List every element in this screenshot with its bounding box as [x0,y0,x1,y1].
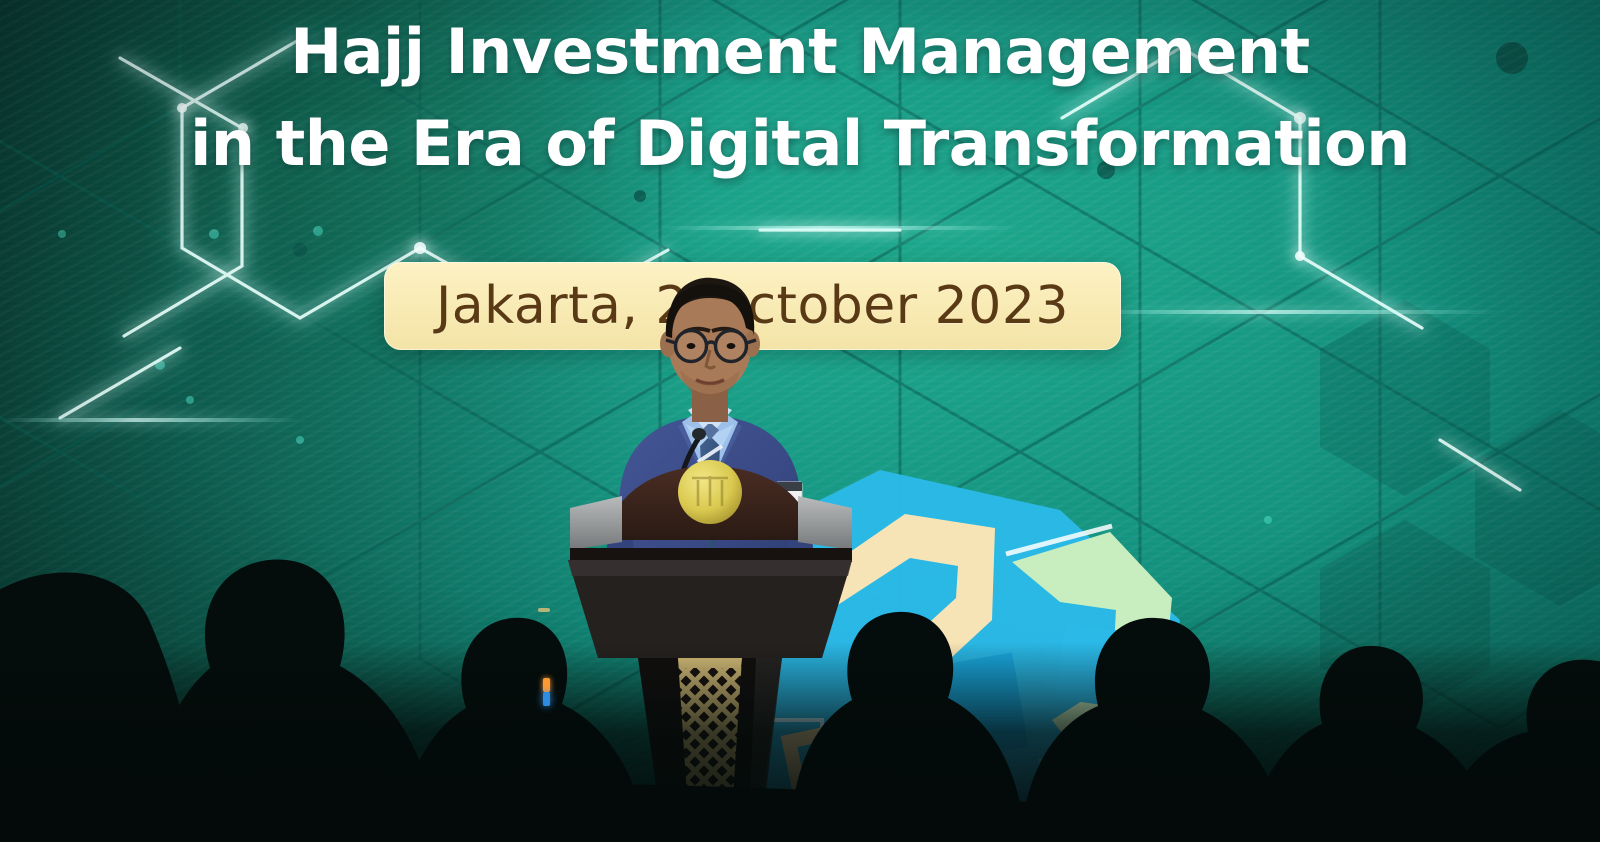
speaker-head [660,278,760,422]
phone-screen-glow [543,678,550,692]
conference-photo: Hajj Investment Management in the Era of… [0,0,1600,842]
podium [568,460,852,842]
phone-screen-glow-lower [543,692,550,706]
light-streak-glow [538,608,550,612]
speaker-at-podium [560,240,860,842]
